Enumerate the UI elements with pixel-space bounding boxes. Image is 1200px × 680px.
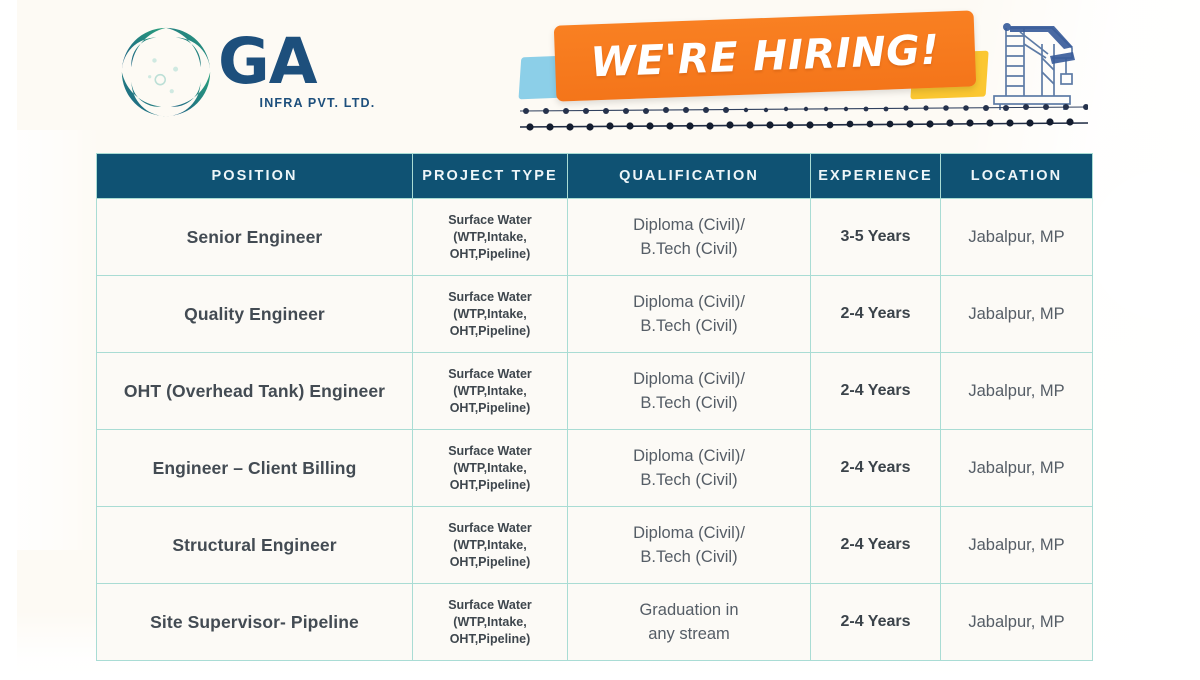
cell-experience: 2-4 Years	[811, 507, 941, 584]
logo-wordmark: GA INFRA PVT. LTD.	[218, 26, 393, 110]
cell-qualification: Graduation in any stream	[568, 584, 811, 661]
qualification-line-1: Diploma (Civil)/	[574, 444, 804, 468]
qualification-line-2: B.Tech (Civil)	[574, 545, 804, 569]
cell-position: Structural Engineer	[97, 507, 413, 584]
cell-experience: 3-5 Years	[811, 199, 941, 276]
project-type-line-2: (WTP,Intake,	[419, 306, 561, 323]
cell-experience: 2-4 Years	[811, 430, 941, 507]
qualification-line-1: Diploma (Civil)/	[574, 521, 804, 545]
column-header-position: POSITION	[97, 154, 413, 199]
project-type-line-3: OHT,Pipeline)	[419, 631, 561, 648]
table-row: Senior Engineer Surface Water (WTP,Intak…	[97, 199, 1093, 276]
project-type-line-2: (WTP,Intake,	[419, 537, 561, 554]
cell-qualification: Diploma (Civil)/ B.Tech (Civil)	[568, 430, 811, 507]
company-tagline: INFRA PVT. LTD.	[218, 96, 393, 110]
project-type-line-3: OHT,Pipeline)	[419, 400, 561, 417]
qualification-line-2: any stream	[574, 622, 804, 646]
cell-position: Quality Engineer	[97, 276, 413, 353]
table-row: Site Supervisor- Pipeline Surface Water …	[97, 584, 1093, 661]
qualification-line-2: B.Tech (Civil)	[574, 237, 804, 261]
project-type-line-1: Surface Water	[419, 520, 561, 537]
column-header-project-type: PROJECT TYPE	[413, 154, 568, 199]
cell-position: OHT (Overhead Tank) Engineer	[97, 353, 413, 430]
cell-location: Jabalpur, MP	[941, 276, 1093, 353]
cell-project-type: Surface Water (WTP,Intake, OHT,Pipeline)	[413, 430, 568, 507]
project-type-line-3: OHT,Pipeline)	[419, 246, 561, 263]
cell-qualification: Diploma (Civil)/ B.Tech (Civil)	[568, 507, 811, 584]
cell-location: Jabalpur, MP	[941, 584, 1093, 661]
project-type-line-2: (WTP,Intake,	[419, 614, 561, 631]
cell-position: Engineer – Client Billing	[97, 430, 413, 507]
cell-project-type: Surface Water (WTP,Intake, OHT,Pipeline)	[413, 353, 568, 430]
project-type-line-1: Surface Water	[419, 212, 561, 229]
table-row: OHT (Overhead Tank) Engineer Surface Wat…	[97, 353, 1093, 430]
cell-experience: 2-4 Years	[811, 584, 941, 661]
jobs-table-wrapper: POSITION PROJECT TYPE QUALIFICATION EXPE…	[96, 153, 1092, 659]
column-header-location: LOCATION	[941, 154, 1093, 199]
left-fade-overlay	[0, 130, 100, 550]
cell-position: Senior Engineer	[97, 199, 413, 276]
cell-location: Jabalpur, MP	[941, 507, 1093, 584]
qualification-line-1: Graduation in	[574, 598, 804, 622]
qualification-line-2: B.Tech (Civil)	[574, 391, 804, 415]
cell-qualification: Diploma (Civil)/ B.Tech (Civil)	[568, 199, 811, 276]
project-type-line-2: (WTP,Intake,	[419, 229, 561, 246]
jobs-table: POSITION PROJECT TYPE QUALIFICATION EXPE…	[96, 153, 1093, 661]
cell-location: Jabalpur, MP	[941, 353, 1093, 430]
project-type-line-3: OHT,Pipeline)	[419, 323, 561, 340]
cell-location: Jabalpur, MP	[941, 199, 1093, 276]
project-type-line-1: Surface Water	[419, 443, 561, 460]
poster-header: GA INFRA PVT. LTD. WE'RE HIRING!	[0, 0, 1200, 145]
hiring-banner: WE'RE HIRING!	[512, 8, 1092, 138]
qualification-line-1: Diploma (Civil)/	[574, 213, 804, 237]
cell-location: Jabalpur, MP	[941, 430, 1093, 507]
cell-project-type: Surface Water (WTP,Intake, OHT,Pipeline)	[413, 276, 568, 353]
table-header-row: POSITION PROJECT TYPE QUALIFICATION EXPE…	[97, 154, 1093, 199]
qualification-line-1: Diploma (Civil)/	[574, 367, 804, 391]
cell-experience: 2-4 Years	[811, 353, 941, 430]
project-type-line-2: (WTP,Intake,	[419, 460, 561, 477]
table-row: Structural Engineer Surface Water (WTP,I…	[97, 507, 1093, 584]
qualification-line-2: B.Tech (Civil)	[574, 314, 804, 338]
cell-project-type: Surface Water (WTP,Intake, OHT,Pipeline)	[413, 584, 568, 661]
cell-qualification: Diploma (Civil)/ B.Tech (Civil)	[568, 276, 811, 353]
dotted-rail-icon	[520, 100, 1088, 138]
project-type-line-3: OHT,Pipeline)	[419, 554, 561, 571]
cell-project-type: Surface Water (WTP,Intake, OHT,Pipeline)	[413, 507, 568, 584]
hiring-headline: WE'RE HIRING!	[554, 10, 977, 101]
qualification-line-1: Diploma (Civil)/	[574, 290, 804, 314]
project-type-line-3: OHT,Pipeline)	[419, 477, 561, 494]
hiring-poster: GA INFRA PVT. LTD. WE'RE HIRING!	[0, 0, 1200, 680]
qualification-line-2: B.Tech (Civil)	[574, 468, 804, 492]
project-type-line-1: Surface Water	[419, 597, 561, 614]
company-name: GA	[218, 26, 393, 98]
project-type-line-2: (WTP,Intake,	[419, 383, 561, 400]
cell-experience: 2-4 Years	[811, 276, 941, 353]
swirl-circle-logo-icon	[118, 24, 214, 120]
table-row: Engineer – Client Billing Surface Water …	[97, 430, 1093, 507]
column-header-qualification: QUALIFICATION	[568, 154, 811, 199]
cell-position: Site Supervisor- Pipeline	[97, 584, 413, 661]
column-header-experience: EXPERIENCE	[811, 154, 941, 199]
project-type-line-1: Surface Water	[419, 289, 561, 306]
project-type-line-1: Surface Water	[419, 366, 561, 383]
cell-qualification: Diploma (Civil)/ B.Tech (Civil)	[568, 353, 811, 430]
table-row: Quality Engineer Surface Water (WTP,Inta…	[97, 276, 1093, 353]
company-logo: GA INFRA PVT. LTD.	[118, 20, 393, 125]
cell-project-type: Surface Water (WTP,Intake, OHT,Pipeline)	[413, 199, 568, 276]
